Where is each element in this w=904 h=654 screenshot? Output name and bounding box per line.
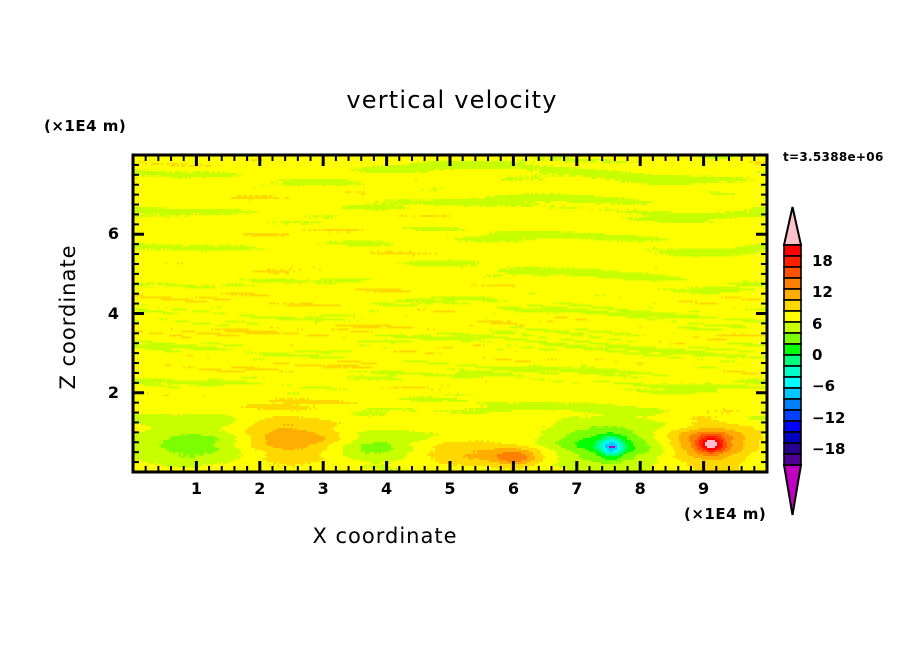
- colorbar-band: [784, 333, 801, 344]
- colorbar-under-arrow: [784, 465, 801, 515]
- colorbar-band: [784, 443, 801, 454]
- z-tick-label: 6: [79, 224, 119, 243]
- colorbar-tick-label: −12: [812, 409, 845, 427]
- colorbar-band: [784, 311, 801, 322]
- colorbar-band: [784, 410, 801, 421]
- colorbar-tick-label: −18: [812, 440, 845, 458]
- colorbar-band: [784, 322, 801, 333]
- colorbar[interactable]: [784, 207, 801, 515]
- colorbar-band: [784, 377, 801, 388]
- colorbar-band: [784, 256, 801, 267]
- colorbar-band: [784, 245, 801, 256]
- contour-field: [133, 155, 768, 473]
- colorbar-band: [784, 388, 801, 399]
- colorbar-band: [784, 289, 801, 300]
- colorbar-band: [784, 432, 801, 443]
- colorbar-over-arrow: [784, 207, 801, 245]
- colorbar-band: [784, 421, 801, 432]
- colorbar-tick-label: 0: [812, 346, 822, 364]
- colorbar-tick-label: 6: [812, 315, 822, 333]
- z-tick-label: 4: [79, 304, 119, 323]
- contour-plot-svg: [0, 0, 904, 654]
- colorbar-tick-label: 12: [812, 283, 833, 301]
- colorbar-band: [784, 267, 801, 278]
- x-tick-label: 7: [557, 479, 597, 498]
- figure-canvas: vertical velocity (×1E4 m) (×1E4 m) t=3.…: [0, 0, 904, 654]
- x-tick-label: 8: [620, 479, 660, 498]
- x-tick-label: 1: [176, 479, 216, 498]
- x-tick-label: 5: [430, 479, 470, 498]
- colorbar-band: [784, 300, 801, 311]
- x-tick-label: 4: [367, 479, 407, 498]
- x-tick-label: 3: [303, 479, 343, 498]
- x-tick-label: 2: [240, 479, 280, 498]
- colorbar-band: [784, 454, 801, 465]
- colorbar-tick-label: −6: [812, 377, 835, 395]
- colorbar-band: [784, 344, 801, 355]
- colorbar-band: [784, 366, 801, 377]
- colorbar-tick-label: 18: [812, 252, 833, 270]
- x-tick-label: 6: [493, 479, 533, 498]
- x-tick-label: 9: [684, 479, 724, 498]
- colorbar-band: [784, 399, 801, 410]
- colorbar-band: [784, 278, 801, 289]
- colorbar-band: [784, 355, 801, 366]
- z-tick-label: 2: [79, 383, 119, 402]
